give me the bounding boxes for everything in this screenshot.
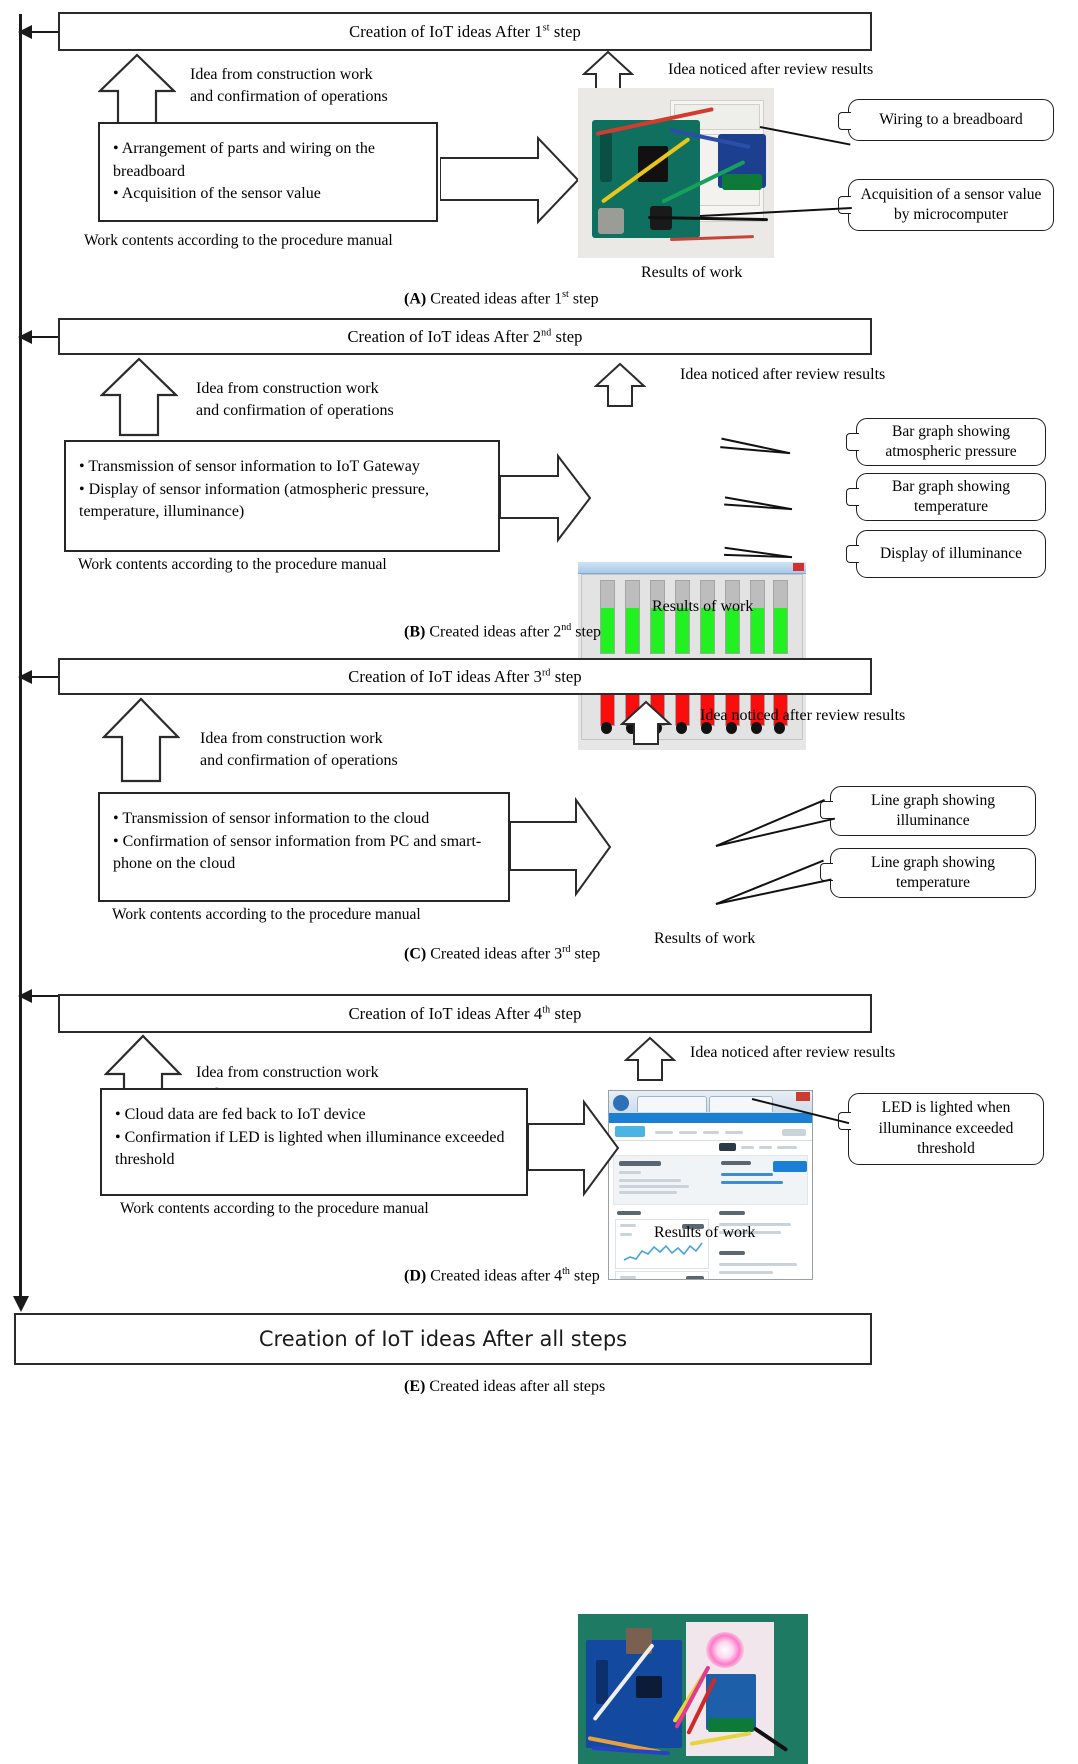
work-item: • Cloud data are fed back to IoT device [115, 1104, 513, 1127]
close-icon[interactable] [796, 1092, 810, 1101]
photo-arduino-breadboard [578, 88, 774, 258]
figure-caption-a: (A) Created ideas after 1st step [404, 289, 599, 308]
up-arrow-idea-c [102, 697, 180, 783]
figure-tag: (D) [404, 1267, 426, 1284]
callout-tail [846, 488, 859, 506]
results-caption-a: Results of work [641, 262, 742, 284]
right-arrow-a [440, 134, 580, 226]
review-label-c: Idea noticed after review results [700, 705, 1030, 727]
callout-display-illuminance: Display of illuminance [856, 530, 1046, 578]
up-arrow-idea-b [100, 357, 178, 437]
illuminance-dot [601, 722, 612, 734]
callout-label: Bar graph showing temperature [865, 477, 1037, 518]
idea-label-a: Idea from construction work and confirma… [190, 64, 520, 107]
review-label-b: Idea noticed after review results [680, 364, 1010, 386]
callout-label: Line graph showing illuminance [839, 791, 1027, 832]
figure-caption-c: (C) Created ideas after 3rd step [404, 944, 600, 963]
browser-tab[interactable] [709, 1096, 773, 1112]
callout-tail [838, 196, 851, 214]
work-item: • Display of sensor information (atmosph… [79, 479, 485, 524]
results-caption-c: Results of work [654, 928, 755, 950]
idea-label-b: Idea from construction work and confirma… [196, 378, 526, 421]
callout-label: LED is lighted when illuminance exceeded… [857, 1098, 1035, 1159]
callout-leader-line [721, 437, 790, 454]
idea-label-b-line1: Idea from construction work [196, 378, 526, 400]
work-box-d: • Cloud data are fed back to IoT device … [100, 1088, 528, 1196]
up-arrow-review-d [624, 1036, 676, 1082]
idea-label-c-line1: Idea from construction work [200, 728, 530, 750]
idea-label-c-line2: and confirmation of operations [200, 750, 530, 772]
app-title-bar [578, 562, 806, 574]
idea-label-b-line2: and confirmation of operations [196, 400, 526, 422]
callout-line-temperature: Line graph showing temperature [830, 848, 1036, 898]
subtab-active[interactable] [719, 1143, 736, 1151]
callout-label: Display of illuminance [880, 544, 1022, 564]
work-box-b: • Transmission of sensor information to … [64, 440, 500, 552]
up-arrow-review-c [620, 700, 672, 746]
work-item: • Confirmation if LED is lighted when il… [115, 1127, 513, 1172]
work-caption-d: Work contents according to the procedure… [120, 1200, 429, 1218]
account-menu[interactable] [782, 1129, 806, 1136]
callout-led-threshold: LED is lighted when illuminance exceeded… [848, 1093, 1044, 1165]
work-caption-c: Work contents according to the procedure… [112, 906, 421, 924]
callout-sensor-acquisition: Acquisition of a sensor value by microco… [848, 179, 1054, 231]
callout-label: Bar graph showing atmospheric pressure [865, 422, 1037, 463]
browser-tab[interactable] [637, 1096, 707, 1112]
work-caption-b: Work contents according to the procedure… [78, 556, 387, 574]
up-arrow-review-b [594, 362, 646, 408]
right-arrow-c [510, 796, 612, 898]
results-caption-b: Results of work [652, 596, 753, 618]
channel-card-temperature [615, 1271, 709, 1280]
step-header-a: Creation of IoT ideas After 1st step [58, 12, 872, 51]
photo-led-breadboard [578, 1614, 808, 1764]
work-box-a: • Arrangement of parts and wiring on the… [98, 122, 438, 222]
figure-caption-d: (D) Created ideas after 4th step [404, 1266, 600, 1285]
idea-label-d-line1: Idea from construction work [196, 1062, 526, 1084]
review-label-a: Idea noticed after review results [668, 59, 998, 81]
work-box-c: • Transmission of sensor information to … [98, 792, 510, 902]
figure-tag: (A) [404, 290, 426, 307]
idea-label-a-line2: and confirmation of operations [190, 86, 520, 108]
callout-bar-pressure: Bar graph showing atmospheric pressure [856, 418, 1046, 466]
step-header-d: Creation of IoT ideas After 4th step [58, 994, 872, 1033]
illuminance-dot [676, 722, 687, 734]
final-step-box: Creation of IoT ideas After all steps [14, 1313, 872, 1365]
callout-wiring-breadboard: Wiring to a breadboard [848, 99, 1054, 141]
callout-line-illuminance: Line graph showing illuminance [830, 786, 1036, 836]
work-item: • Acquisition of the sensor value [113, 183, 423, 206]
idea-label-a-line1: Idea from construction work [190, 64, 520, 86]
step-header-b-label: Creation of IoT ideas After 2nd step [347, 327, 582, 347]
screenshot-cloud-dashboard [608, 1090, 813, 1280]
figure-tag: (B) [404, 623, 425, 640]
figure-caption-e: (E) Created ideas after all steps [404, 1378, 605, 1396]
close-icon[interactable] [793, 563, 804, 571]
figure-caption-b: (B) Created ideas after 2nd step [404, 622, 601, 641]
led-indicator [706, 1632, 744, 1668]
callout-tail [846, 433, 859, 451]
work-caption-a: Work contents according to the procedure… [84, 232, 393, 250]
flow-arrow-to-final [13, 1296, 29, 1312]
figure-tag: (E) [404, 1378, 425, 1395]
callout-tail [846, 545, 859, 563]
primary-action-button[interactable] [773, 1161, 807, 1172]
vertical-flow-line [19, 14, 22, 1304]
step-header-c: Creation of IoT ideas After 3rd step [58, 658, 872, 695]
step-header-b: Creation of IoT ideas After 2nd step [58, 318, 872, 355]
step-header-a-label: Creation of IoT ideas After 1st step [349, 22, 581, 42]
up-arrow-idea-a [98, 53, 176, 131]
callout-label: Acquisition of a sensor value by microco… [857, 185, 1045, 226]
results-caption-d: Results of work [654, 1222, 755, 1244]
work-item: • Transmission of sensor information to … [79, 456, 485, 479]
callout-label: Wiring to a breadboard [879, 110, 1023, 130]
callout-bar-temperature: Bar graph showing temperature [856, 473, 1046, 521]
work-item: • Transmission of sensor information to … [113, 808, 495, 831]
work-item: • Arrangement of parts and wiring on the… [113, 138, 423, 183]
callout-tail [820, 801, 833, 819]
right-arrow-b [500, 452, 592, 544]
notification-bar [609, 1113, 812, 1123]
step-header-d-label: Creation of IoT ideas After 4th step [349, 1004, 582, 1024]
final-step-label: Creation of IoT ideas After all steps [259, 1327, 627, 1351]
review-label-d: Idea noticed after review results [690, 1042, 1020, 1064]
callout-tail [838, 112, 851, 130]
callout-label: Line graph showing temperature [839, 853, 1027, 894]
figure-tag: (C) [404, 945, 426, 962]
callout-leader-line [716, 878, 832, 905]
step-header-c-label: Creation of IoT ideas After 3rd step [348, 667, 581, 687]
idea-label-c: Idea from construction work and confirma… [200, 728, 530, 771]
right-arrow-d [528, 1098, 620, 1198]
work-item: • Confirmation of sensor information fro… [113, 831, 495, 876]
